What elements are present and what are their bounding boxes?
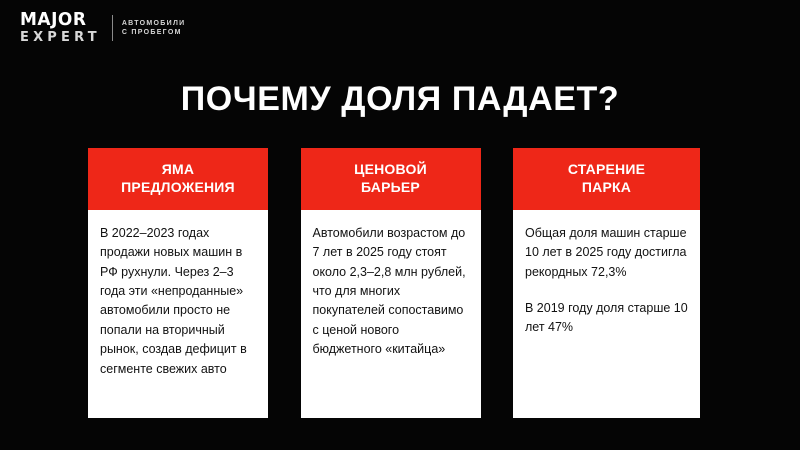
card-header-line2: ПАРКА [519,178,694,196]
brand-tagline: АВТОМОБИЛИ С ПРОБЕГОМ [122,19,186,38]
brand-tagline-line1: АВТОМОБИЛИ [122,19,186,28]
card-header-line1: ЯМА [94,160,262,178]
brand-name-major: MAJOR [20,12,101,29]
card-tsenovoy-barier: ЦЕНОВОЙ БАРЬЕР Автомобили возрастом до 7… [301,148,481,418]
card-body: Общая доля машин старше 10 лет в 2025 го… [513,210,700,418]
card-header-line1: ЦЕНОВОЙ [307,160,475,178]
card-paragraph: Общая доля машин старше 10 лет в 2025 го… [525,224,688,282]
card-header: СТАРЕНИЕ ПАРКА [513,148,700,210]
card-body: В 2022–2023 годах продажи новых машин в … [88,210,268,418]
brand-divider [112,15,113,41]
cards-container: ЯМА ПРЕДЛОЖЕНИЯ В 2022–2023 годах продаж… [88,148,700,418]
page-title: ПОЧЕМУ ДОЛЯ ПАДАЕТ? [0,80,800,119]
card-header: ЯМА ПРЕДЛОЖЕНИЯ [88,148,268,210]
brand-tagline-line2: С ПРОБЕГОМ [122,28,186,37]
card-body: Автомобили возрастом до 7 лет в 2025 год… [301,210,481,418]
card-header: ЦЕНОВОЙ БАРЬЕР [301,148,481,210]
slide-root: MAJOR EXPERT АВТОМОБИЛИ С ПРОБЕГОМ ПОЧЕМ… [0,0,800,450]
card-yama-predlozheniya: ЯМА ПРЕДЛОЖЕНИЯ В 2022–2023 годах продаж… [88,148,268,418]
card-paragraph: Автомобили возрастом до 7 лет в 2025 год… [313,224,469,360]
card-header-line1: СТАРЕНИЕ [519,160,694,178]
card-paragraph: В 2019 году доля старше 10 лет 47% [525,299,688,338]
card-starenie-parka: СТАРЕНИЕ ПАРКА Общая доля машин старше 1… [513,148,700,418]
brand-wordmark: MAJOR EXPERT [20,12,101,44]
card-paragraph: В 2022–2023 годах продажи новых машин в … [100,224,256,379]
brand-name-expert: EXPERT [20,31,101,44]
card-header-line2: ПРЕДЛОЖЕНИЯ [94,178,262,196]
brand-logo: MAJOR EXPERT АВТОМОБИЛИ С ПРОБЕГОМ [20,12,185,44]
card-header-line2: БАРЬЕР [307,178,475,196]
